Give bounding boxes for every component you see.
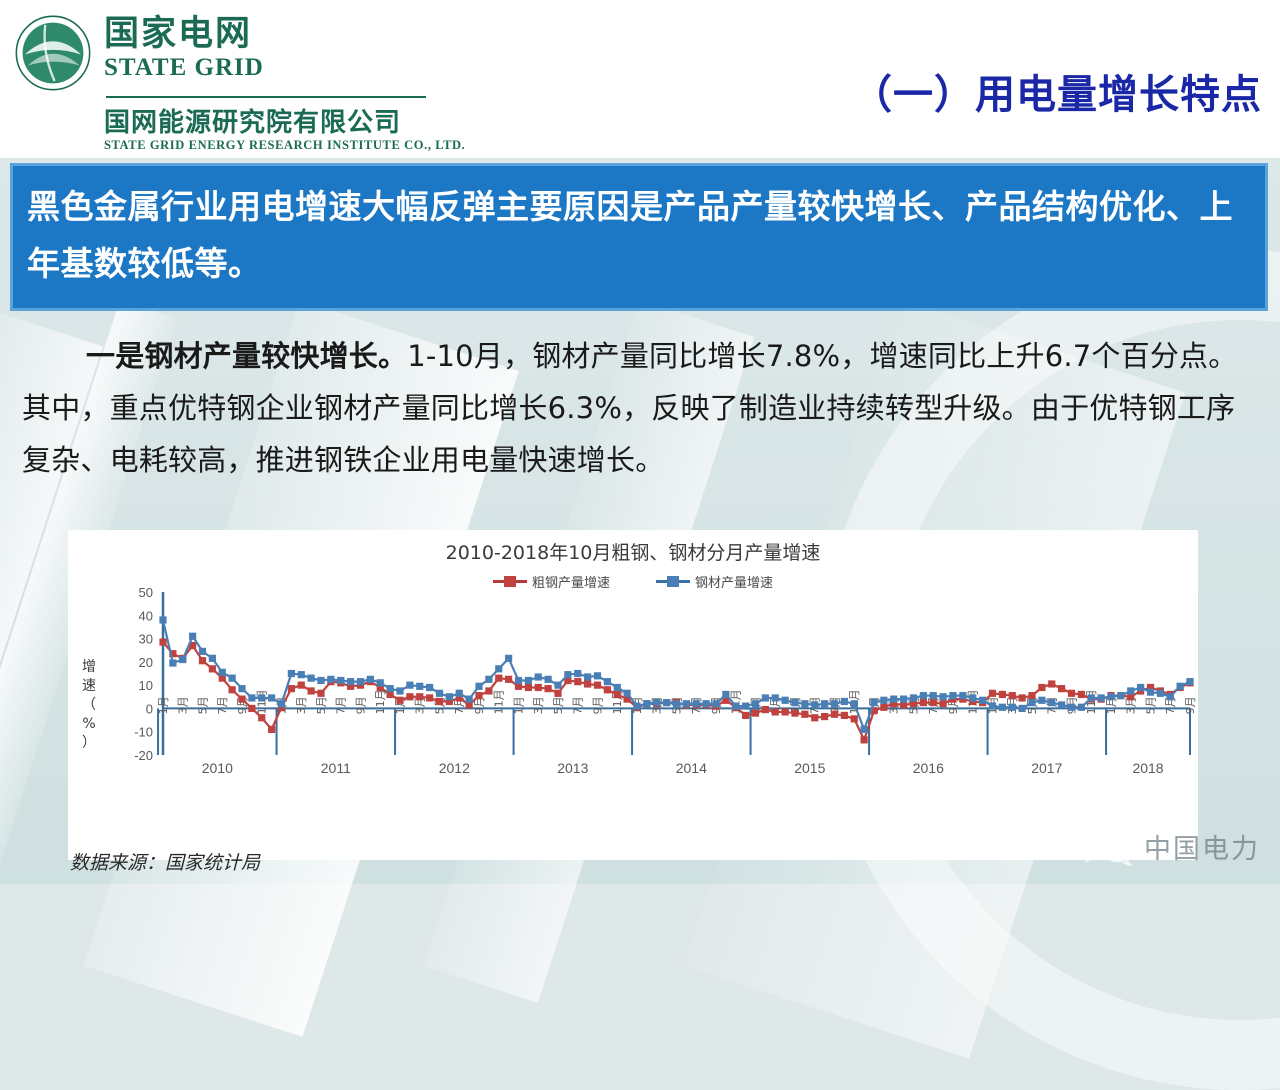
svg-text:1月: 1月 [513, 696, 526, 714]
brand-divider [106, 96, 426, 98]
svg-text:2016: 2016 [913, 760, 944, 776]
state-grid-logo-icon [14, 14, 92, 92]
brand-name-en: STATE GRID [104, 54, 264, 82]
page-title: （一）用电量增长特点 [852, 62, 1262, 120]
institute-name-cn: 国网能源研究院有限公司 [104, 108, 465, 138]
brand-lockup: 国家电网 STATE GRID [104, 14, 264, 82]
svg-text:5月: 5月 [552, 696, 565, 714]
svg-text:11月: 11月 [493, 689, 506, 714]
institute-lockup: 国网能源研究院有限公司 STATE GRID ENERGY RESEARCH I… [104, 100, 465, 152]
wechat-icon [1080, 826, 1136, 866]
svg-text:2010: 2010 [202, 760, 233, 776]
svg-text:9月: 9月 [1184, 696, 1197, 714]
watermark-label: 中国电力 [1144, 827, 1260, 866]
svg-text:3月: 3月 [177, 696, 190, 714]
chart-container: 2010-2018年10月粗钢、钢材分月产量增速 粗钢产量增速 钢材产量增速 增… [68, 530, 1198, 860]
svg-text:3月: 3月 [295, 696, 308, 714]
svg-text:20: 20 [139, 655, 153, 670]
svg-text:30: 30 [139, 632, 153, 647]
svg-text:50: 50 [139, 585, 153, 600]
svg-text:40: 40 [139, 608, 153, 623]
svg-text:2018: 2018 [1132, 760, 1163, 776]
slide-header: 国家电网 STATE GRID 国网能源研究院有限公司 STATE GRID E… [0, 0, 1280, 158]
svg-text:7月: 7月 [216, 696, 229, 714]
svg-text:-20: -20 [134, 748, 153, 763]
svg-text:5月: 5月 [197, 696, 210, 714]
chart-plot: 50403020100-10-2020101月3月5月7月9月11月20111月… [68, 530, 1198, 860]
svg-text:1月: 1月 [157, 696, 170, 714]
banner-text: 黑色金属行业用电增速大幅反弹主要原因是产品产量较快增长、产品结构优化、上年基数较… [13, 166, 1265, 292]
brand-name-cn: 国家电网 [104, 14, 264, 54]
highlight-banner: 黑色金属行业用电增速大幅反弹主要原因是产品产量较快增长、产品结构优化、上年基数较… [10, 163, 1268, 311]
svg-text:5月: 5月 [1145, 696, 1158, 714]
svg-text:2011: 2011 [321, 760, 351, 776]
svg-text:3月: 3月 [532, 696, 545, 714]
svg-text:2012: 2012 [439, 760, 470, 776]
svg-text:9月: 9月 [355, 696, 368, 714]
watermark: 中国电力 [1080, 826, 1260, 866]
svg-text:7月: 7月 [572, 696, 585, 714]
source-note: 数据来源：国家统计局 [70, 848, 260, 875]
institute-name-en: STATE GRID ENERGY RESEARCH INSTITUTE CO.… [104, 138, 465, 152]
body-paragraph: 一是钢材产量较快增长。1-10月，钢材产量同比增长7.8%，增速同比上升6.7个… [22, 330, 1262, 486]
svg-text:2017: 2017 [1031, 760, 1062, 776]
svg-text:10: 10 [139, 678, 153, 693]
svg-text:2015: 2015 [794, 760, 825, 776]
svg-text:11月: 11月 [256, 689, 269, 714]
svg-text:-10: -10 [134, 725, 153, 740]
svg-text:2013: 2013 [557, 760, 588, 776]
svg-text:11月: 11月 [374, 689, 387, 714]
svg-text:0: 0 [146, 701, 153, 716]
paragraph-lead: 一是钢材产量较快增长。 [86, 339, 407, 373]
svg-text:5月: 5月 [315, 696, 328, 714]
svg-text:7月: 7月 [335, 696, 348, 714]
svg-text:9月: 9月 [592, 696, 605, 714]
svg-text:2014: 2014 [676, 760, 707, 776]
